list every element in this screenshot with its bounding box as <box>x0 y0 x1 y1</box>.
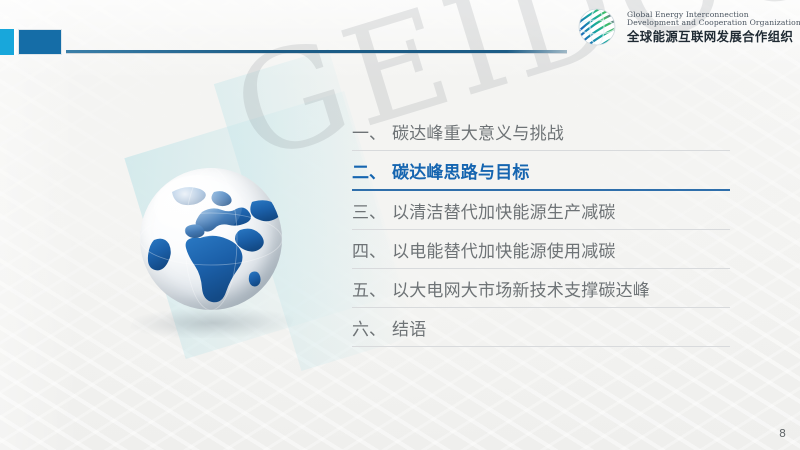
agenda-item-6-number: 六、 <box>352 315 386 340</box>
striped-globe-logo-icon <box>575 5 619 49</box>
agenda-item-3-label: 以清洁替代加快能源生产减碳 <box>392 198 616 223</box>
agenda-item-2-label: 碳达峰思路与目标 <box>392 158 530 183</box>
agenda-item-6[interactable]: 六、 结语 <box>352 308 730 347</box>
agenda-item-3[interactable]: 三、 以清洁替代加快能源生产减碳 <box>352 191 730 230</box>
header-rule-shadow <box>66 53 567 54</box>
agenda-item-4-label: 以电能替代加快能源使用减碳 <box>392 237 616 262</box>
agenda-item-4[interactable]: 四、 以电能替代加快能源使用减碳 <box>352 230 730 269</box>
page-number: 8 <box>779 427 786 440</box>
agenda-item-1-number: 一、 <box>352 119 386 144</box>
agenda-list: 一、 碳达峰重大意义与挑战 二、 碳达峰思路与目标 三、 以清洁替代加快能源生产… <box>352 112 730 347</box>
globe-illustration <box>132 168 292 343</box>
globe-drop-shadow <box>126 308 298 338</box>
header-accent-cyan-block <box>0 29 16 55</box>
agenda-item-1-label: 碳达峰重大意义与挑战 <box>392 119 564 144</box>
agenda-item-5-label: 以大电网大市场新技术支撑碳达峰 <box>392 276 650 301</box>
agenda-item-6-label: 结语 <box>392 315 426 340</box>
agenda-item-1[interactable]: 一、 碳达峰重大意义与挑战 <box>352 112 730 151</box>
agenda-item-3-number: 三、 <box>352 198 386 223</box>
organization-brand-lockup: Global Energy Interconnection Developmen… <box>575 5 800 49</box>
agenda-item-5[interactable]: 五、 以大电网大市场新技术支撑碳达峰 <box>352 269 730 308</box>
header-accent-blue-block <box>18 29 62 55</box>
brand-text-block: Global Energy Interconnection Developmen… <box>627 11 800 44</box>
agenda-item-4-number: 四、 <box>352 237 386 262</box>
agenda-item-2[interactable]: 二、 碳达峰思路与目标 <box>352 151 730 191</box>
3d-globe-icon <box>140 168 282 310</box>
brand-chinese-name: 全球能源互联网发展合作组织 <box>627 30 800 44</box>
slide-canvas: GEIDCO <box>0 0 800 450</box>
brand-english-line-2: Development and Cooperation Organization <box>627 19 800 28</box>
agenda-item-2-number: 二、 <box>352 158 386 183</box>
agenda-item-5-number: 五、 <box>352 276 386 301</box>
